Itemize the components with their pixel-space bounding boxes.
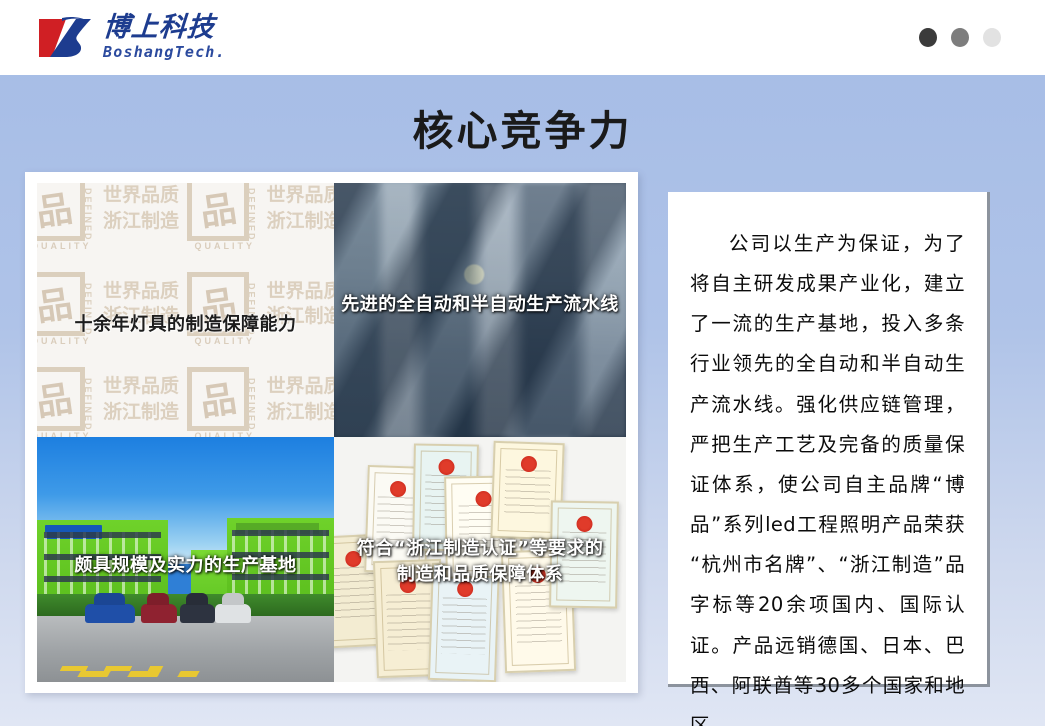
tile-caption-certificates-line2: 制造和品质保障体系	[334, 563, 626, 587]
car-blue	[85, 604, 135, 624]
tile-certificates[interactable]: 符合“浙江制造认证”等要求的 制造和品质保障体系	[334, 437, 626, 682]
pager-dots[interactable]	[919, 28, 1001, 47]
tile-caption-manufacturing: 十余年灯具的制造保障能力	[37, 313, 334, 337]
tile-caption-production-base: 颇具规模及实力的生产基地	[37, 554, 334, 578]
logo-text-cn: 博上科技	[102, 14, 227, 41]
pager-dot-1[interactable]	[919, 28, 937, 47]
parking-ground	[37, 616, 334, 682]
media-collage-card: DEFINED世界品质浙江制造 DEFINED世界品质浙江制造 DEFINED世…	[25, 172, 638, 693]
car-red	[141, 604, 177, 624]
boshang-logo-mark	[36, 13, 94, 61]
tile-production-line[interactable]: 先进的全自动和半自动生产流水线	[334, 183, 626, 437]
slide-root: 博上科技 BoshangTech. 核心竞争力 DEFINED世界品质浙江制造 …	[0, 0, 1045, 726]
car-dark	[180, 604, 216, 624]
logo-text-en: BoshangTech.	[103, 45, 226, 60]
pager-dot-2[interactable]	[951, 28, 969, 47]
tile-production-base[interactable]: 颇具规模及实力的生产基地	[37, 437, 334, 682]
description-panel: 公司以生产为保证，为了将自主研发成果产业化，建立了一流的生产基地，投入多条行业领…	[668, 192, 990, 687]
description-text: 公司以生产为保证，为了将自主研发成果产业化，建立了一流的生产基地，投入多条行业领…	[668, 192, 987, 726]
page-title: 核心竞争力	[0, 97, 1045, 157]
car-white	[215, 604, 251, 624]
brand-logo[interactable]: 博上科技 BoshangTech.	[36, 13, 226, 61]
media-grid: DEFINED世界品质浙江制造 DEFINED世界品质浙江制造 DEFINED世…	[37, 183, 626, 682]
quality-watermark-pattern: DEFINED世界品质浙江制造 DEFINED世界品质浙江制造 DEFINED世…	[37, 183, 334, 437]
header-bar: 博上科技 BoshangTech.	[0, 0, 1045, 75]
road-marking-2	[77, 671, 199, 677]
tile-manufacturing-capability[interactable]: DEFINED世界品质浙江制造 DEFINED世界品质浙江制造 DEFINED世…	[37, 183, 334, 437]
tile-caption-certificates-line1: 符合“浙江制造认证”等要求的	[334, 537, 626, 561]
pager-dot-3[interactable]	[983, 28, 1001, 47]
tile-caption-production-line: 先进的全自动和半自动生产流水线	[334, 293, 626, 317]
